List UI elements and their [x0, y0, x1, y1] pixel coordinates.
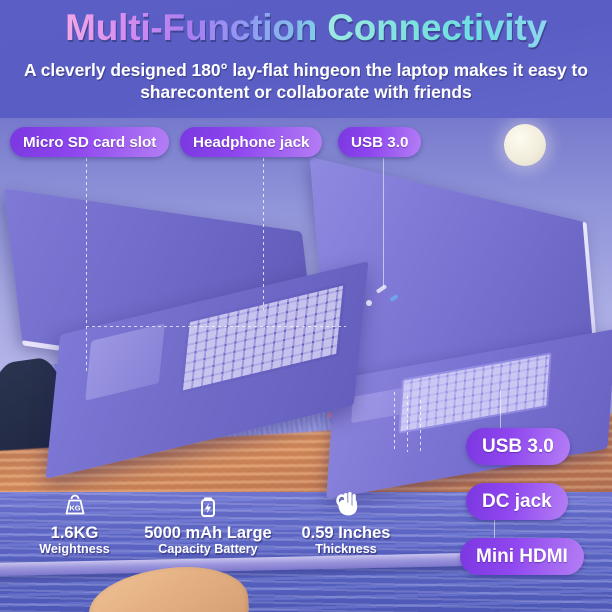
leader-line-mini-hdmi	[420, 400, 421, 454]
spec-thickness-label: Thickness	[276, 542, 416, 556]
page-title: Multi-Function Connectivity	[0, 9, 612, 46]
spec-battery-label: Capacity Battery	[128, 542, 288, 556]
spec-battery: 5000 mAh Large Capacity Battery	[128, 487, 288, 557]
battery-charging-icon	[128, 487, 288, 525]
title-part-two: Connectivity	[327, 7, 547, 48]
leader-line-dc-jack	[407, 396, 408, 452]
leader-line-usb-right	[394, 392, 395, 450]
spec-thickness-value: 0.59 Inches	[276, 525, 416, 542]
leader-line-micro-sd	[86, 158, 87, 372]
leader-line-usb-right-2	[500, 390, 501, 428]
subtitle-text: A cleverly designed 180° lay-flat hingeo…	[22, 60, 590, 103]
badge-headphone-jack[interactable]: Headphone jack	[180, 127, 322, 157]
spec-weight-label: Weightness	[12, 542, 137, 556]
ok-hand-gesture-icon	[276, 487, 416, 525]
svg-text:KG: KG	[69, 504, 80, 513]
spec-thickness: 0.59 Inches Thickness	[276, 487, 416, 557]
weight-kg-icon: KG	[12, 487, 137, 525]
leader-line-headphone	[263, 158, 264, 310]
badge-usb-3-0-top[interactable]: USB 3.0	[338, 127, 421, 157]
product-marketing-poster: KG 1.6KG Weightness 5000 mAh Large Capac…	[0, 0, 612, 612]
moon-icon	[504, 124, 546, 166]
spec-weight-value: 1.6KG	[12, 525, 137, 542]
badge-mini-hdmi[interactable]: Mini HDMI	[460, 538, 584, 575]
badge-dc-jack[interactable]: DC jack	[466, 483, 568, 520]
spec-battery-value: 5000 mAh Large	[128, 525, 288, 542]
title-part-one: Multi-Function	[65, 7, 327, 48]
leader-line-usb-top	[383, 158, 384, 288]
leader-line-horizontal	[86, 326, 346, 327]
port-headphone-jack	[366, 300, 372, 306]
badge-micro-sd-card-slot[interactable]: Micro SD card slot	[10, 127, 169, 157]
header-banner: Multi-Function Connectivity A cleverly d…	[0, 0, 612, 118]
badge-usb-3-0-right[interactable]: USB 3.0	[466, 428, 570, 465]
spec-weight: KG 1.6KG Weightness	[12, 487, 137, 557]
